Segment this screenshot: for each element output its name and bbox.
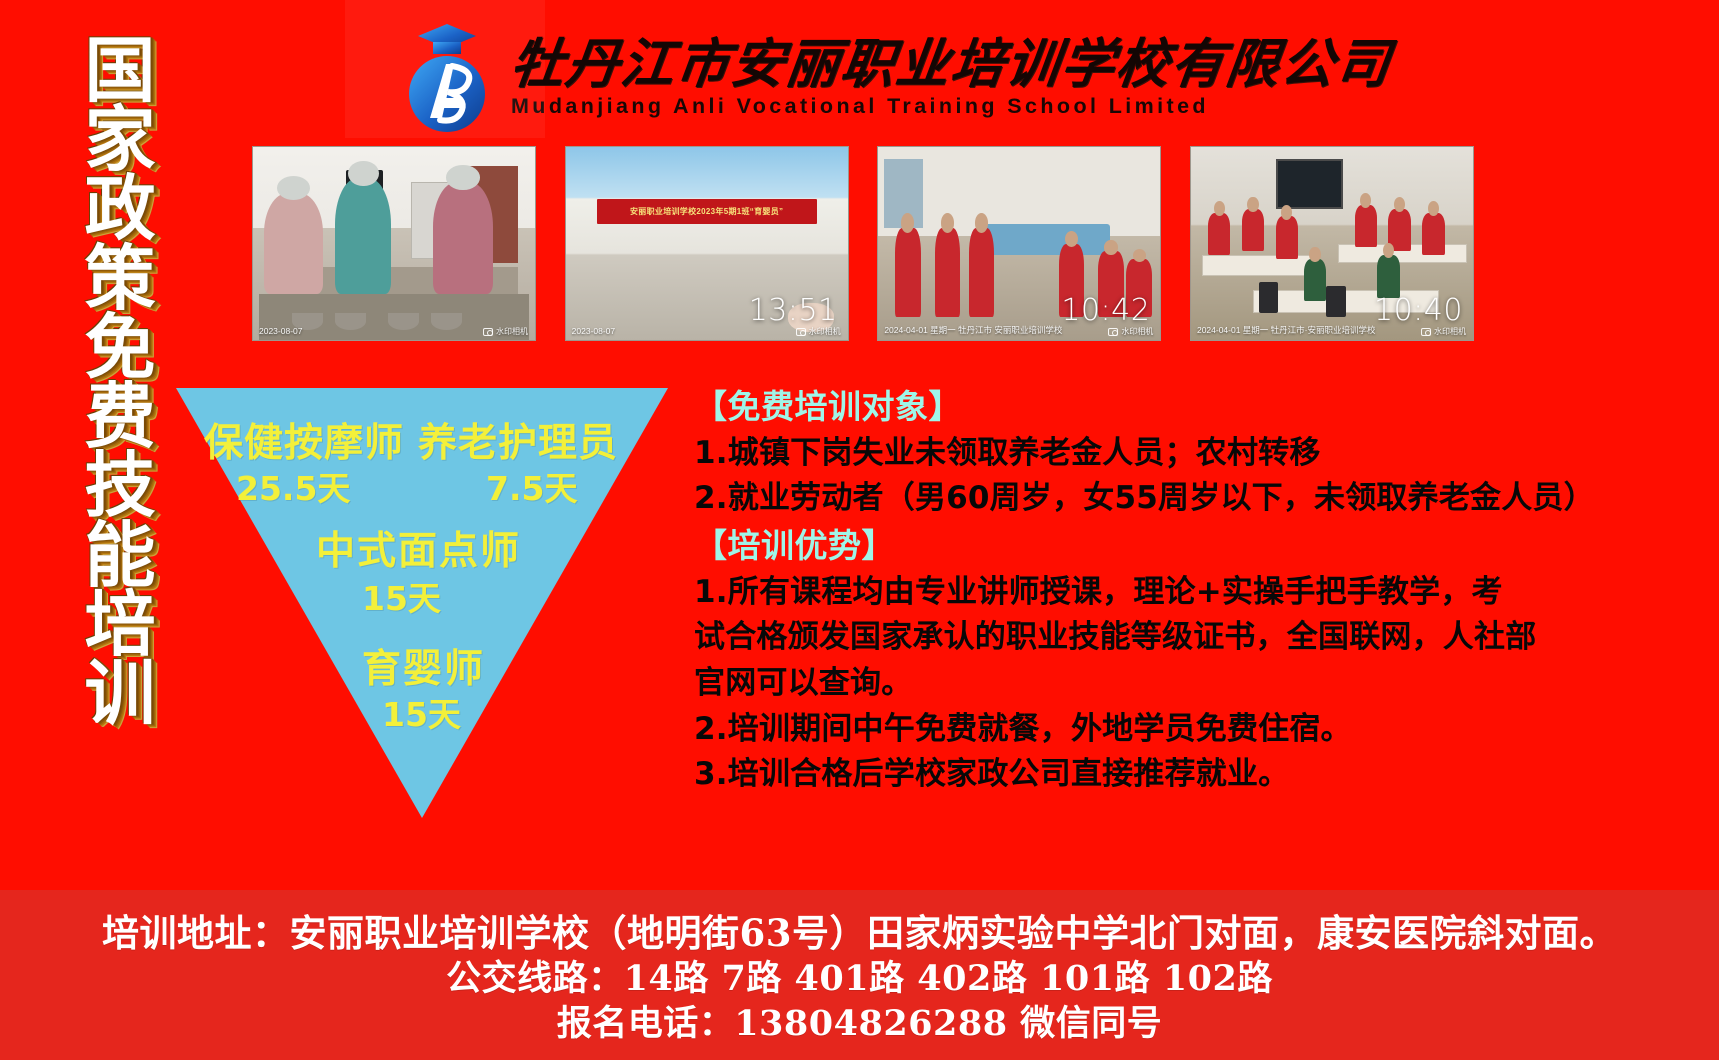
camera-icon [1421,328,1431,336]
vertical-title-char: 策 [84,244,155,313]
header-branding: 牡丹江市安丽职业培训学校有限公司 Mudanjiang Anli Vocatio… [400,18,1300,138]
camera-icon [483,328,493,336]
section-item: 2.就业劳动者（男60周岁，女55周岁以下，未领取养老金人员） [694,476,1704,522]
footer-bus-lines: 公交线路：14路 7路 401路 402路 101路 102路 [446,957,1273,1002]
watermark-camera-icon: 水印相机 [796,326,841,337]
course-name-1: 养老护理员 [418,412,618,468]
section-item: 试合格颁发国家承认的职业技能等级证书，全国联网，人社部 [694,615,1704,661]
vertical-title-char: 政 [84,174,155,243]
photo-strip: 2023-08-07 水印相机 安丽职业培训学校2023年5期1班“育婴员” [252,146,1474,341]
section-heading-advantages: 【培训优势】 [694,522,1704,570]
watermark-label: 水印相机 [1434,326,1466,337]
section-item: 官网可以查询。 [694,661,1704,707]
photo-card: 安丽职业培训学校2023年5期1班“育婴员” 13:51 2023-08-07 … [565,146,849,341]
photo-timestamp: 10:42 [1061,293,1150,328]
vertical-title-char: 技 [84,451,155,520]
section-item: 1.所有课程均由专业讲师授课，理论+实操手把手教学，考 [694,570,1704,616]
vertical-title-char: 免 [84,313,155,382]
school-name-block: 牡丹江市安丽职业培训学校有限公司 Mudanjiang Anli Vocatio… [511,37,1391,120]
camera-icon [1108,328,1118,336]
photo-date: 2023-08-07 [572,326,615,336]
poster-root: 国 家 政 策 免 费 技 能 培 训 [0,0,1719,1060]
photo-date: 2024-04-01 星期一 牡丹江市·安丽职业培训学校 [1197,324,1376,336]
photo-card: 10:40 2024-04-01 星期一 牡丹江市·安丽职业培训学校 水印相机 [1190,146,1474,341]
photo-date: 2023-08-07 [259,326,302,336]
photo-timestamp: 10:40 [1374,293,1463,328]
vertical-title-char: 国 [84,36,155,105]
course-name-2: 中式面点师 [316,520,521,576]
watermark-camera-icon: 水印相机 [1421,326,1466,337]
footer-phone: 报名电话：13804826288 微信同号 [557,1002,1163,1047]
photo-timestamp: 13:51 [749,293,838,328]
info-text-block: 【免费培训对象】 1.城镇下岗失业未领取养老金人员；农村转移 2.就业劳动者（男… [694,383,1704,798]
photo-banner-text: 安丽职业培训学校2023年5期1班“育婴员” [597,199,817,224]
vertical-title-char: 训 [84,659,155,728]
section-heading-eligibility: 【免费培训对象】 [694,383,1704,431]
watermark-label: 水印相机 [809,326,841,337]
vertical-title-char: 费 [84,382,155,451]
course-name-0: 保健按摩师 [204,412,404,468]
school-name-cn: 牡丹江市安丽职业培训学校有限公司 [508,37,1395,93]
vertical-title-char: 家 [84,105,155,174]
watermark-camera-icon: 水印相机 [1108,326,1153,337]
photo-card: 2023-08-07 水印相机 [252,146,536,341]
watermark-label: 水印相机 [496,326,528,337]
school-name-en: Mudanjiang Anli Vocational Training Scho… [511,94,1391,119]
course-duration-3: 15天 [382,688,461,736]
section-item: 2.培训期间中午免费就餐，外地学员免费住宿。 [694,707,1704,753]
course-duration-2: 15天 [362,572,441,620]
footer-contact-bar: 培训地址：安丽职业培训学校（地明街63号）田家炳实验中学北门对面，康安医院斜对面… [0,890,1719,1060]
photo-card: 10:42 2024-04-01 星期一 牡丹江市 安丽职业培训学校 水印相机 [877,146,1161,341]
camera-icon [796,328,806,336]
watermark-label: 水印相机 [1121,326,1153,337]
watermark-camera-icon: 水印相机 [483,326,528,337]
section-item: 3.培训合格后学校家政公司直接推荐就业。 [694,752,1704,798]
course-triangle: 保健按摩师 25.5天 养老护理员 7.5天 中式面点师 15天 育婴师 15天 [176,388,668,818]
graduation-cap-monogram-logo [400,22,495,134]
vertical-poster-title: 国 家 政 策 免 费 技 能 培 训 [72,36,168,728]
course-duration-1: 7.5天 [486,462,577,510]
course-labels: 保健按摩师 25.5天 养老护理员 7.5天 中式面点师 15天 育婴师 15天 [176,388,668,818]
course-name-3: 育婴师 [362,638,485,694]
course-duration-0: 25.5天 [236,462,350,510]
vertical-title-char: 培 [84,590,155,659]
vertical-title-char: 能 [84,521,155,590]
photo-image-kitchen [253,147,535,340]
footer-address: 培训地址：安丽职业培训学校（地明街63号）田家炳实验中学北门对面，康安医院斜对面… [102,910,1617,957]
photo-date: 2024-04-01 星期一 牡丹江市 安丽职业培训学校 [884,324,1062,336]
section-item: 1.城镇下岗失业未领取养老金人员；农村转移 [694,431,1704,477]
